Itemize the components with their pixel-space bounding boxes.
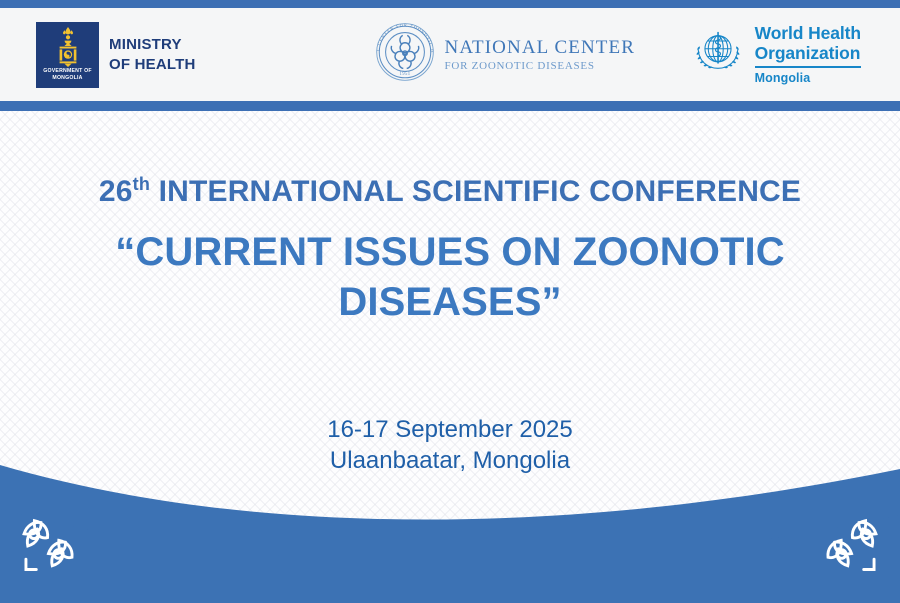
who-name-line2: Organization <box>755 44 861 64</box>
mongolian-knot-ornament-right-icon <box>806 515 882 577</box>
page-title: “CURRENT ISSUES ON ZOONOTIC DISEASES” <box>0 227 900 328</box>
conference-ordinal: th <box>133 174 150 194</box>
svg-text:1951: 1951 <box>399 72 410 77</box>
svg-text:NATIONAL CENTER FOR ZOONOTIC D: NATIONAL CENTER FOR ZOONOTIC DISEASES <box>372 19 435 53</box>
national-center-name: NATIONAL CENTER FOR ZOONOTIC DISEASES <box>445 38 635 72</box>
who-name-line1: World Health <box>755 24 861 44</box>
national-center-line2: FOR ZOONOTIC DISEASES <box>445 61 635 72</box>
conference-label: INTERNATIONAL SCIENTIFIC CONFERENCE <box>159 175 802 208</box>
national-center-line1: NATIONAL CENTER <box>445 38 635 57</box>
ministry-of-health-name: MINISTRY OF HEALTH <box>109 35 196 75</box>
ministry-crest-caption: GOVERNMENT OF MONGOLIA <box>43 68 91 82</box>
who-name-block: World Health Organization Mongolia <box>755 24 861 85</box>
who-underline <box>755 66 861 68</box>
conference-title-slide: GOVERNMENT OF MONGOLIA MINISTRY OF HEALT… <box>0 0 900 603</box>
who-country-label: Mongolia <box>755 71 861 85</box>
mongolia-soyombo-emblem-icon: GOVERNMENT OF MONGOLIA <box>36 22 99 88</box>
biohazard-seal-icon: NATIONAL CENTER FOR ZOONOTIC DISEASES 19… <box>372 19 438 90</box>
top-accent-bar <box>0 0 900 8</box>
who-logo: World Health Organization Mongolia <box>690 24 861 85</box>
conference-dates: 16-17 September 2025 <box>0 414 900 446</box>
logo-row: GOVERNMENT OF MONGOLIA MINISTRY OF HEALT… <box>0 8 900 101</box>
conference-number: 26 <box>99 175 133 208</box>
who-emblem-icon <box>690 24 746 85</box>
footer-wave-graphic <box>0 443 900 603</box>
conference-edition-line: 26th INTERNATIONAL SCIENTIFIC CONFERENCE <box>0 175 900 209</box>
ministry-of-health-logo: GOVERNMENT OF MONGOLIA MINISTRY OF HEALT… <box>36 22 196 88</box>
slide-content: 26th INTERNATIONAL SCIENTIFIC CONFERENCE… <box>0 111 900 477</box>
national-center-logo: NATIONAL CENTER FOR ZOONOTIC DISEASES 19… <box>372 19 635 90</box>
header-divider-bar <box>0 101 900 111</box>
mongolian-knot-ornament-left-icon <box>18 515 94 577</box>
